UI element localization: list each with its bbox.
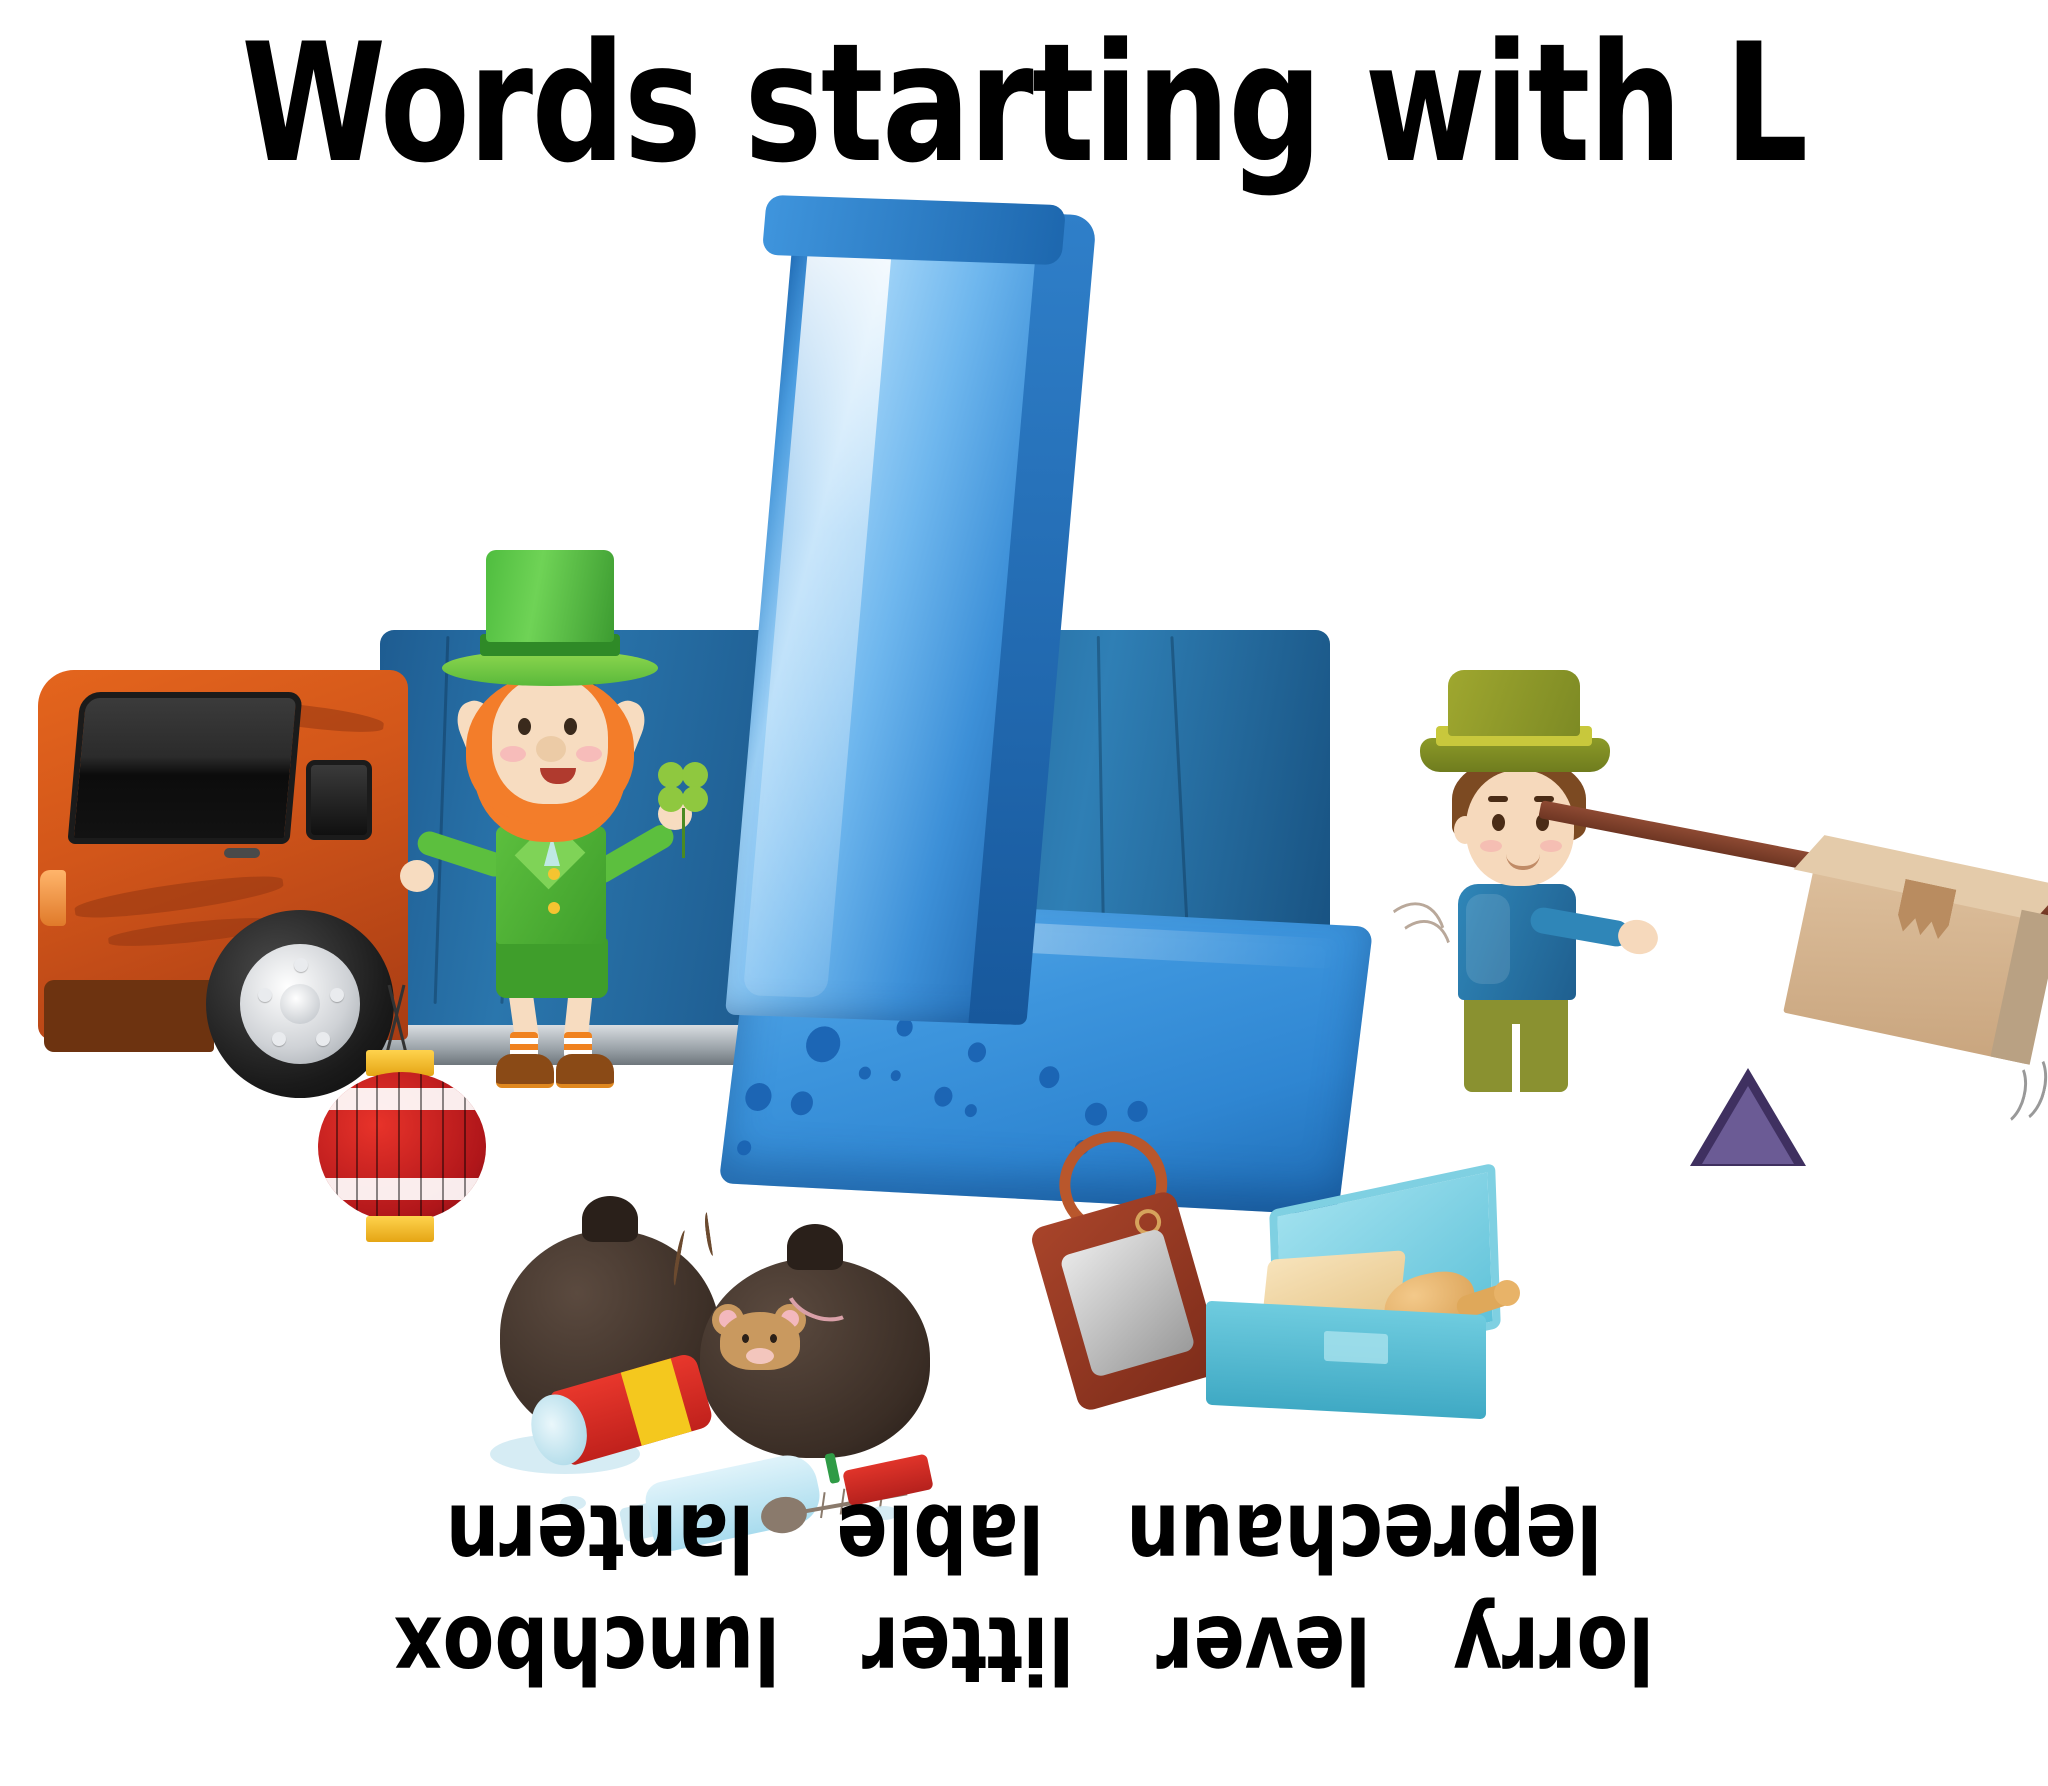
label-tag <box>1029 1189 1226 1413</box>
mouse-icon <box>712 1298 808 1370</box>
lorry-door-handle <box>224 848 260 858</box>
page-title: Words starting with L <box>205 22 1843 186</box>
word-item: leprechaun <box>1126 1480 1602 1592</box>
word-item: litter <box>862 1592 1074 1704</box>
word-list-row: leprechaun lable lantern <box>184 1480 1863 1592</box>
word-item: lever <box>1156 1592 1371 1704</box>
word-item: lantern <box>446 1480 755 1592</box>
lunchbox-object <box>1200 1190 1510 1420</box>
lunchbox-base <box>1206 1301 1486 1420</box>
scene-illustration <box>0 170 2048 1470</box>
lorry-headlight <box>40 870 66 926</box>
word-item: lunchbox <box>394 1592 780 1704</box>
lantern-body <box>318 1072 486 1222</box>
leprechaun-hat <box>486 550 614 642</box>
leprechaun-character <box>400 550 700 1090</box>
word-item: lable <box>836 1480 1044 1592</box>
letter-l-graphic <box>690 210 1410 1210</box>
lorry-bumper <box>44 980 214 1052</box>
lever-fulcrum-inner <box>1702 1086 1794 1164</box>
lorry-side-window <box>306 760 372 840</box>
lorry-windshield <box>67 692 302 844</box>
illustration-page: Words starting with L <box>0 0 2048 1786</box>
word-list: lorry lever litter lunchbox leprechaun l… <box>0 1480 2048 1704</box>
lantern-object <box>310 1050 490 1310</box>
letter-l-stem <box>725 205 1095 1025</box>
word-item: lorry <box>1453 1592 1654 1704</box>
boy-bucket-hat <box>1448 670 1580 736</box>
boy-character <box>1380 670 1680 1090</box>
word-list-row: lorry lever litter lunchbox <box>184 1592 1863 1704</box>
